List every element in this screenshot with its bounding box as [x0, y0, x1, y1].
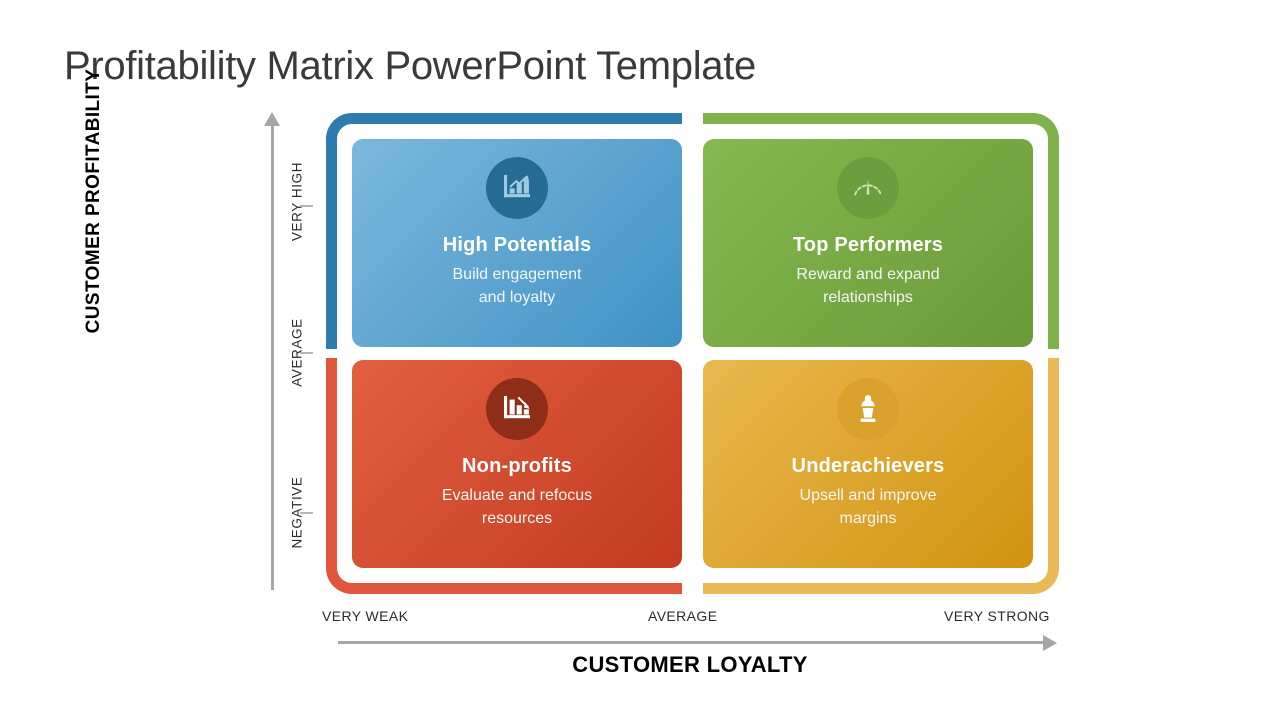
bar-chart-up-icon [486, 157, 548, 219]
y-axis-line [271, 122, 274, 590]
quadrant-description: Reward and expandrelationships [796, 264, 939, 309]
quadrant-description: Build engagementand loyalty [453, 264, 582, 309]
x-axis-tick-very-strong: VERY STRONG [944, 608, 1050, 624]
bracket-cap [1048, 360, 1059, 371]
y-axis-tick-mark [300, 205, 313, 207]
bracket-cap [703, 583, 714, 594]
quadrant-description: Evaluate and refocusresources [442, 485, 592, 530]
y-axis-tick-mark [300, 352, 313, 354]
bracket-cap [703, 113, 714, 124]
quadrant-top-performers[interactable]: Top Performers Reward and expandrelation… [693, 112, 1060, 353]
quadrant-title: Non-profits [462, 455, 572, 478]
quadrant-title: Underachievers [792, 455, 945, 478]
page-title: Profitability Matrix PowerPoint Template [64, 44, 756, 88]
quadrant-card[interactable]: Non-profits Evaluate and refocusresource… [352, 360, 682, 568]
bracket-cap [326, 360, 337, 371]
profitability-matrix: High Potentials Build engagementand loya… [325, 112, 1060, 594]
quadrant-card[interactable]: High Potentials Build engagementand loya… [352, 139, 682, 347]
quadrant-card[interactable]: Top Performers Reward and expandrelation… [703, 139, 1033, 347]
quadrant-title: Top Performers [793, 234, 943, 257]
y-axis-title: CUSTOMER PROFITABILITY [83, 31, 105, 371]
bar-chart-down-icon [486, 378, 548, 440]
quadrant-high-potentials[interactable]: High Potentials Build engagementand loya… [325, 112, 692, 353]
y-axis-arrow-icon [264, 112, 280, 126]
quadrant-card[interactable]: Underachievers Upsell and improvemargins [703, 360, 1033, 568]
x-axis-tick-average: AVERAGE [648, 608, 717, 624]
podium-speaker-icon [837, 378, 899, 440]
x-axis-arrow-icon [1043, 635, 1057, 651]
x-axis-title: CUSTOMER LOYALTY [0, 652, 1280, 678]
y-axis-tick-mark [300, 512, 313, 514]
quadrant-title: High Potentials [443, 234, 592, 257]
quadrant-underachievers[interactable]: Underachievers Upsell and improvemargins [693, 354, 1060, 595]
x-axis-tick-very-weak: VERY WEAK [322, 608, 408, 624]
y-axis-tick-very-high: VERY HIGH [290, 127, 305, 277]
slide-canvas: Profitability Matrix PowerPoint Template… [0, 0, 1280, 720]
bracket-cap [326, 338, 337, 349]
bracket-cap [1048, 338, 1059, 349]
quadrant-description: Upsell and improvemargins [800, 485, 937, 530]
speedometer-icon [837, 157, 899, 219]
bracket-cap [671, 113, 682, 124]
bracket-cap [671, 583, 682, 594]
quadrant-non-profits[interactable]: Non-profits Evaluate and refocusresource… [325, 354, 692, 595]
x-axis-line [338, 641, 1044, 644]
